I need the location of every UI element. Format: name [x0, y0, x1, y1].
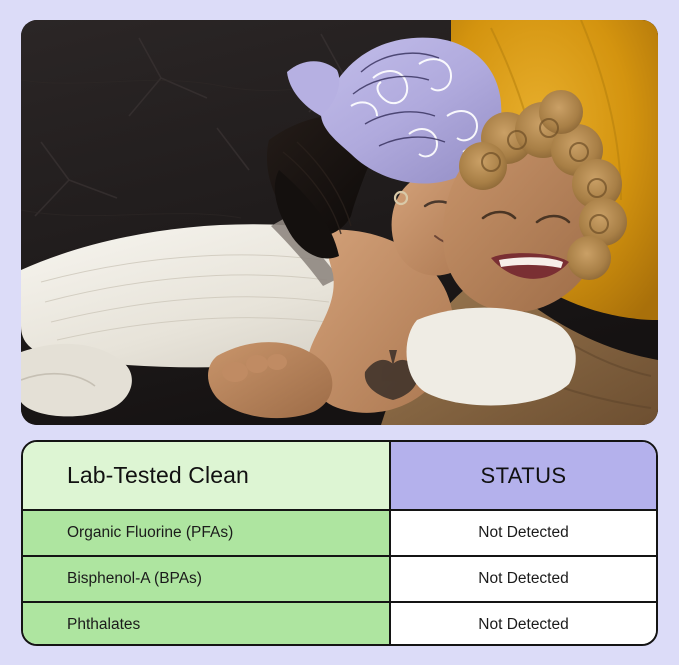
- row-status-cell-bisphenol-a: Not Detected: [391, 557, 656, 601]
- lab-tested-clean-table: Lab-Tested Clean STATUS Organic Fluorine…: [21, 440, 658, 646]
- table-row: Bisphenol-A (BPAs) Not Detected: [23, 555, 656, 601]
- lifestyle-photo: [21, 20, 658, 425]
- row-label: Organic Fluorine (PFAs): [67, 524, 233, 542]
- table-header-row: Lab-Tested Clean STATUS: [23, 442, 656, 509]
- page-title: Lab-Tested Clean: [67, 462, 249, 489]
- row-label-cell-phthalates: Phthalates: [23, 603, 391, 646]
- page-root: Lab-Tested Clean STATUS Organic Fluorine…: [0, 0, 679, 665]
- table-header-title-cell: Lab-Tested Clean: [23, 442, 391, 509]
- row-label: Phthalates: [67, 616, 140, 634]
- status-badge: Not Detected: [478, 570, 568, 588]
- table-header-status-cell: STATUS: [391, 442, 656, 509]
- table-row: Organic Fluorine (PFAs) Not Detected: [23, 509, 656, 555]
- status-badge: Not Detected: [478, 524, 568, 542]
- status-badge: Not Detected: [478, 616, 568, 634]
- row-label: Bisphenol-A (BPAs): [67, 570, 202, 588]
- table-row: Phthalates Not Detected: [23, 601, 656, 646]
- row-label-cell-organic-fluorine: Organic Fluorine (PFAs): [23, 511, 391, 555]
- row-status-cell-organic-fluorine: Not Detected: [391, 511, 656, 555]
- row-status-cell-phthalates: Not Detected: [391, 603, 656, 646]
- row-label-cell-bisphenol-a: Bisphenol-A (BPAs): [23, 557, 391, 601]
- status-column-header: STATUS: [481, 463, 567, 489]
